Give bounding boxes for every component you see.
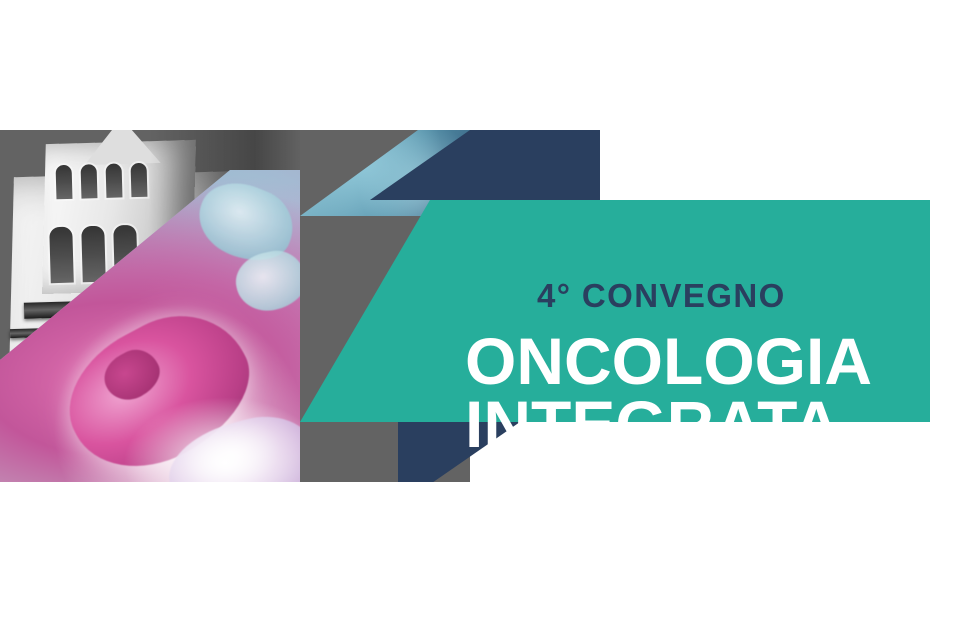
tower-arch-row-top (56, 163, 148, 200)
venue-label: MODENA - FORUM MONZANI (452, 481, 874, 482)
conference-banner: 4° CONVEGNO ONCOLOGIA INTEGRATA MODENA -… (0, 0, 960, 640)
banner-artwork-band: 4° CONVEGNO ONCOLOGIA INTEGRATA MODENA -… (0, 130, 960, 482)
event-title-line-2: INTEGRATA (465, 393, 872, 456)
event-title: ONCOLOGIA INTEGRATA (465, 330, 872, 456)
edition-label: 4° CONVEGNO (537, 277, 786, 315)
